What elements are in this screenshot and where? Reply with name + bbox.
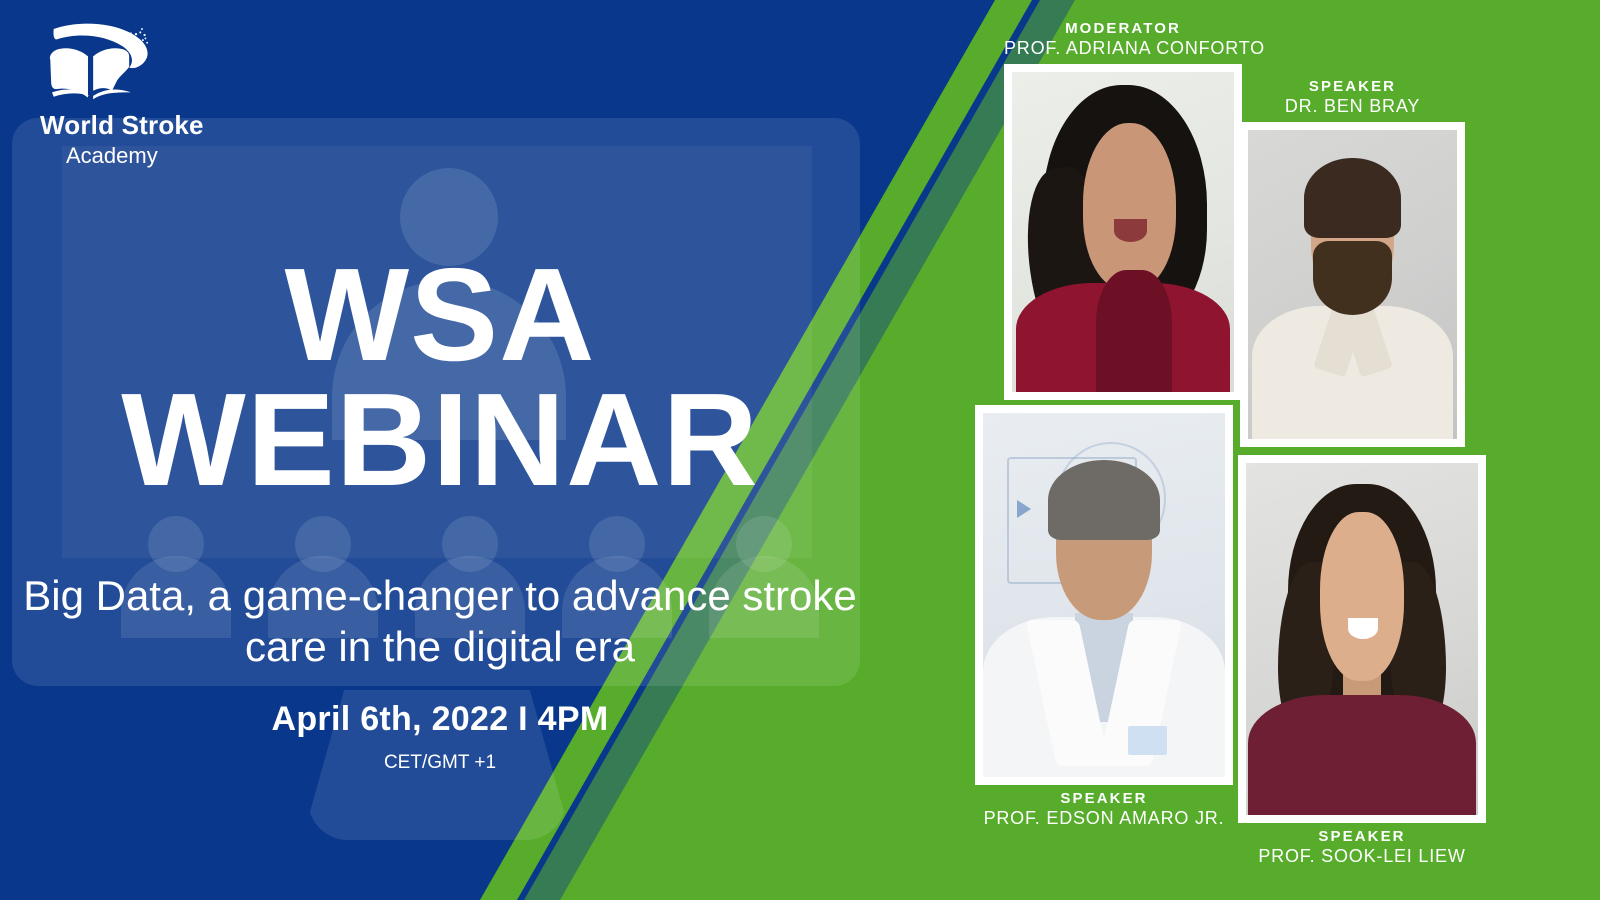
photo-frame: [1238, 455, 1486, 823]
person-name: PROF. EDSON AMARO JR.: [975, 808, 1233, 829]
person-name: DR. BEN BRAY: [1240, 96, 1465, 117]
webinar-timezone: CET/GMT +1: [0, 752, 880, 774]
person-card-conforto: MODERATOR PROF. ADRIANA CONFORTO: [1004, 20, 1242, 400]
person-role: SPEAKER: [1238, 828, 1486, 845]
portrait-photo-bray: [1248, 130, 1457, 439]
webinar-subtitle: Big Data, a game-changer to advance stro…: [10, 570, 870, 672]
person-card-liew: SPEAKER PROF. SOOK-LEI LIEW: [1238, 455, 1486, 867]
webinar-poster: World Stroke Academy WSA WEBINAR Big Dat…: [0, 0, 1600, 900]
photo-frame: [1004, 64, 1242, 400]
portrait-photo-amaro: [983, 413, 1225, 777]
person-role: MODERATOR: [1004, 20, 1242, 37]
poster-headline: WSA WEBINAR: [0, 252, 880, 503]
person-caption-bottom: SPEAKER PROF. SOOK-LEI LIEW: [1238, 828, 1486, 867]
person-caption-top: SPEAKER DR. BEN BRAY: [1240, 78, 1465, 117]
person-name: PROF. SOOK-LEI LIEW: [1238, 846, 1486, 867]
person-name: PROF. ADRIANA CONFORTO: [1004, 38, 1242, 59]
person-card-amaro: SPEAKER PROF. EDSON AMARO JR.: [975, 405, 1233, 829]
person-role: SPEAKER: [1240, 78, 1465, 95]
logo-text-line1: World Stroke: [40, 110, 270, 141]
webinar-date-time: April 6th, 2022 I 4PM: [0, 700, 880, 739]
person-caption-bottom: SPEAKER PROF. EDSON AMARO JR.: [975, 790, 1233, 829]
person-caption-top: MODERATOR PROF. ADRIANA CONFORTO: [1004, 20, 1242, 59]
logo-text-line2: Academy: [66, 143, 270, 169]
person-card-bray: SPEAKER DR. BEN BRAY: [1240, 78, 1465, 447]
photo-frame: [1240, 122, 1465, 447]
person-role: SPEAKER: [975, 790, 1233, 807]
open-book-logo-icon: [40, 22, 160, 108]
photo-frame: [975, 405, 1233, 785]
portrait-photo-conforto: [1012, 72, 1234, 392]
portrait-photo-liew: [1246, 463, 1478, 815]
headline-line2: WEBINAR: [0, 377, 880, 502]
wsa-logo: World Stroke Academy: [40, 22, 270, 169]
